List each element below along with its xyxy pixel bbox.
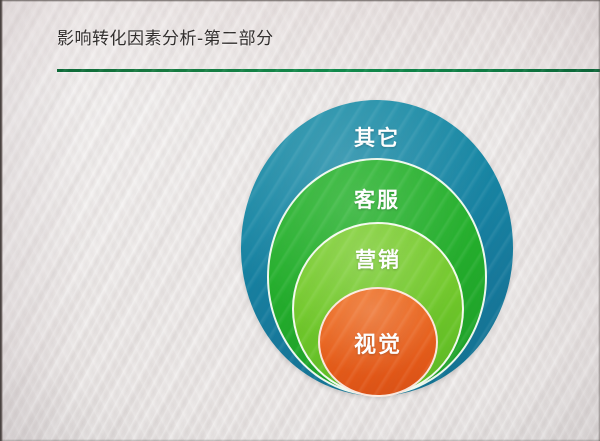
photo-vignette xyxy=(0,0,600,441)
slide-canvas: 影响转化因素分析-第二部分 其它 客服 营销 视觉 xyxy=(0,0,600,441)
photo-edge-left xyxy=(0,0,3,441)
photo-edge-top xyxy=(0,0,600,2)
